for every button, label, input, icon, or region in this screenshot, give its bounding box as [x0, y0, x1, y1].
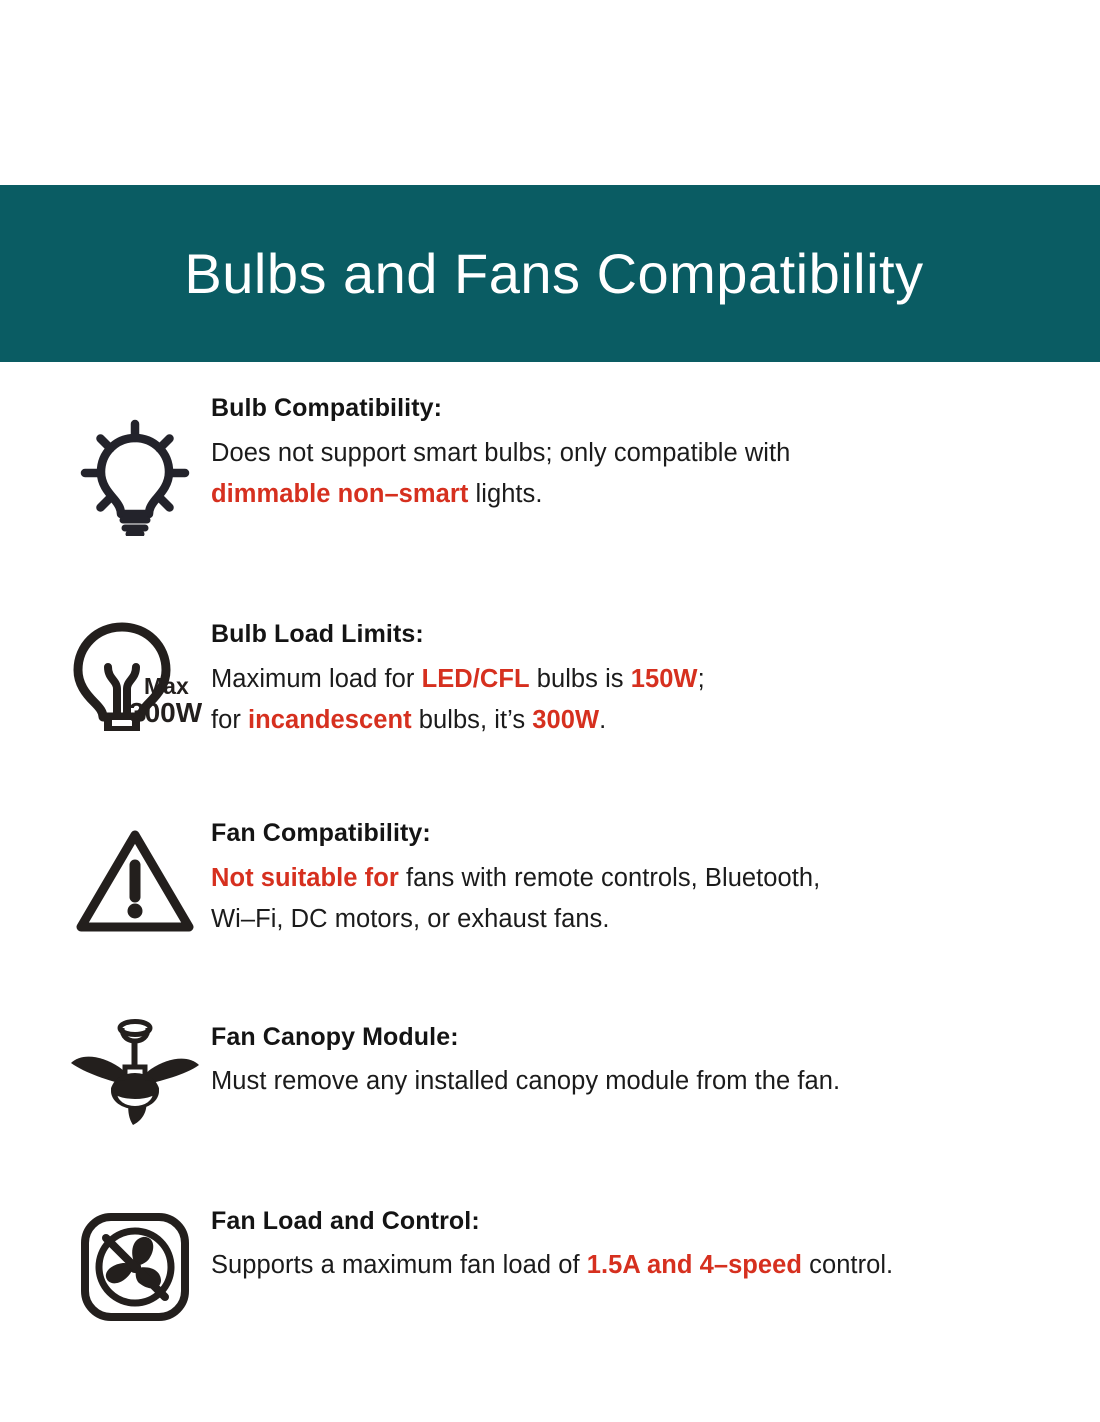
body-text-segment: Supports a maximum fan load of [211, 1251, 587, 1279]
body-text-segment: fans with remote controls, Bluetooth, [399, 864, 820, 892]
list-item-fan-load-and-control: Fan Load and Control: Supports a maximum… [0, 1203, 1100, 1323]
highlight-incandescent: incandescent [248, 706, 412, 734]
compatibility-list: Bulb Compatibility: Does not support sma… [0, 362, 1100, 1323]
no-fan-icon [58, 1211, 211, 1323]
lightbulb-rays-icon [58, 418, 211, 536]
list-item-bulb-compatibility: Bulb Compatibility: Does not support sma… [0, 390, 1100, 536]
item-text-block: Bulb Compatibility: Does not support sma… [211, 390, 1060, 515]
page-title: Bulbs and Fans Compatibility [176, 246, 923, 302]
item-title: Bulb Load Limits: [211, 618, 1060, 652]
body-text-segment: . [599, 706, 606, 734]
body-text-segment: Wi–Fi, DC motors, or exhaust fans. [211, 905, 609, 933]
item-body: Not suitable for fans with remote contro… [211, 858, 1060, 941]
highlight-dimmable-non-smart: dimmable non–smart [211, 480, 468, 508]
warning-triangle-icon [58, 825, 211, 935]
icon-label-max: Max [144, 673, 189, 699]
body-text-segment: for [211, 706, 248, 734]
item-text-block: Fan Canopy Module: Must remove any insta… [211, 1019, 1060, 1103]
item-body: Supports a maximum fan load of 1.5A and … [211, 1245, 1060, 1286]
item-body: Does not support smart bulbs; only compa… [211, 433, 1060, 516]
item-body: Maximum load for LED/CFL bulbs is 150W; … [211, 659, 1060, 742]
lightbulb-max-300w-icon: Max 300W [58, 622, 211, 734]
item-text-block: Bulb Load Limits: Maximum load for LED/C… [211, 616, 1060, 741]
list-item-bulb-load-limits: Max 300W Bulb Load Limits: Maximum load … [0, 616, 1100, 741]
body-text-segment: Maximum load for [211, 665, 422, 693]
page-header-banner: Bulbs and Fans Compatibility [0, 185, 1100, 362]
list-item-fan-compatibility: Fan Compatibility: Not suitable for fans… [0, 815, 1100, 940]
item-text-block: Fan Load and Control: Supports a maximum… [211, 1203, 1060, 1287]
highlight-led-cfl: LED/CFL [422, 665, 530, 693]
list-item-fan-canopy-module: Fan Canopy Module: Must remove any insta… [0, 1019, 1100, 1127]
highlight-not-suitable-for: Not suitable for [211, 864, 399, 892]
item-title: Fan Canopy Module: [211, 1021, 1060, 1055]
item-text-block: Fan Compatibility: Not suitable for fans… [211, 815, 1060, 940]
icon-label-300w: 300W [129, 697, 202, 728]
body-text-segment: bulbs, it’s [412, 706, 533, 734]
body-text-segment: Must remove any installed canopy module … [211, 1067, 840, 1095]
body-text-segment: bulbs is [530, 665, 631, 693]
body-text-segment: control. [802, 1251, 893, 1279]
body-text-segment: ; [698, 665, 705, 693]
body-text-segment: Does not support smart bulbs; only compa… [211, 439, 790, 467]
item-title: Fan Load and Control: [211, 1205, 1060, 1239]
item-title: Bulb Compatibility: [211, 392, 1060, 426]
highlight-1-5a-4-speed: 1.5A and 4–speed [587, 1251, 802, 1279]
item-body: Must remove any installed canopy module … [211, 1061, 1060, 1102]
ceiling-fan-icon [58, 1019, 211, 1127]
highlight-300w: 300W [532, 706, 599, 734]
highlight-150w: 150W [631, 665, 698, 693]
body-text-segment: lights. [468, 480, 542, 508]
item-title: Fan Compatibility: [211, 817, 1060, 851]
